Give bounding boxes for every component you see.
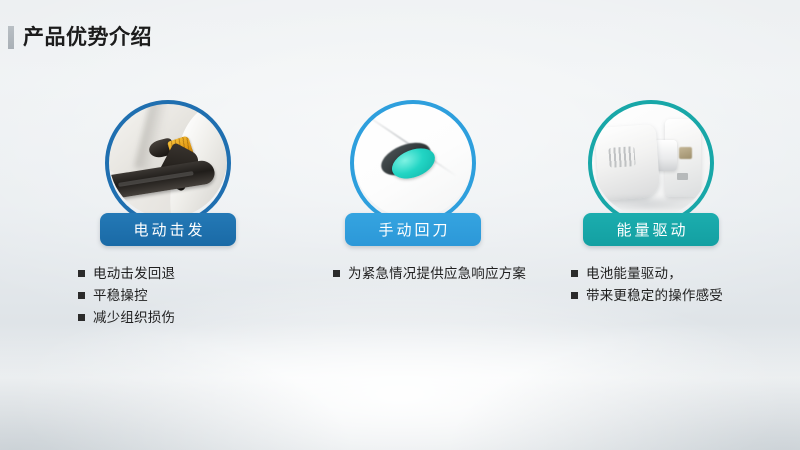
list-item: 为紧急情况提供应急响应方案 [333, 264, 533, 283]
bullet-text: 减少组织损伤 [93, 308, 175, 327]
square-bullet-icon [78, 292, 85, 299]
slide-canvas: 产品优势介绍 电动击发 电 [0, 0, 800, 450]
feature-badge: 手动回刀 [297, 100, 529, 246]
feature-column-manual-blade-return: 手动回刀 为紧急情况提供应急响应方案 [297, 100, 529, 246]
feature-label-pill[interactable]: 能量驱动 [583, 213, 719, 246]
list-item: 电动击发回退 [78, 264, 288, 283]
feature-label-pill[interactable]: 手动回刀 [345, 213, 481, 246]
feature-label-text: 能量驱动 [613, 219, 688, 240]
bullet-text: 带来更稳定的操作感受 [586, 286, 723, 305]
feature-photo-circle [109, 100, 227, 218]
feature-bullet-list: 为紧急情况提供应急响应方案 [333, 264, 533, 286]
feature-label-text: 手动回刀 [375, 219, 450, 240]
square-bullet-icon [78, 314, 85, 321]
feature-label-pill[interactable]: 电动击发 [100, 213, 236, 246]
square-bullet-icon [333, 270, 340, 277]
bullet-text: 为紧急情况提供应急响应方案 [348, 264, 526, 283]
list-item: 带来更稳定的操作感受 [571, 286, 781, 305]
teal-oval-button-photo [354, 100, 472, 218]
bullet-text: 电动击发回退 [93, 264, 175, 283]
feature-bullet-list: 电池能量驱动， 带来更稳定的操作感受 [571, 264, 781, 308]
feature-badge: 电动击发 [52, 100, 284, 246]
list-item: 减少组织损伤 [78, 308, 288, 327]
list-item: 平稳操控 [78, 286, 288, 305]
white-battery-handle-photo [592, 100, 710, 218]
square-bullet-icon [571, 292, 578, 299]
square-bullet-icon [571, 270, 578, 277]
feature-column-energy-drive: 能量驱动 电池能量驱动， 带来更稳定的操作感受 [535, 100, 767, 246]
feature-bullet-list: 电动击发回退 平稳操控 减少组织损伤 [78, 264, 288, 330]
title-accent-bar [8, 26, 14, 49]
bullet-text: 电池能量驱动， [586, 264, 682, 283]
surgical-stapler-trigger-photo [109, 100, 227, 218]
bullet-text: 平稳操控 [93, 286, 148, 305]
square-bullet-icon [78, 270, 85, 277]
list-item: 电池能量驱动， [571, 264, 781, 283]
feature-photo-circle [592, 100, 710, 218]
feature-photo-circle [354, 100, 472, 218]
feature-label-text: 电动击发 [130, 219, 205, 240]
page-title-text: 产品优势介绍 [23, 27, 152, 48]
feature-column-electric-firing: 电动击发 电动击发回退 平稳操控 减少组织损伤 [52, 100, 284, 246]
page-title: 产品优势介绍 [8, 24, 152, 50]
feature-badge: 能量驱动 [535, 100, 767, 246]
